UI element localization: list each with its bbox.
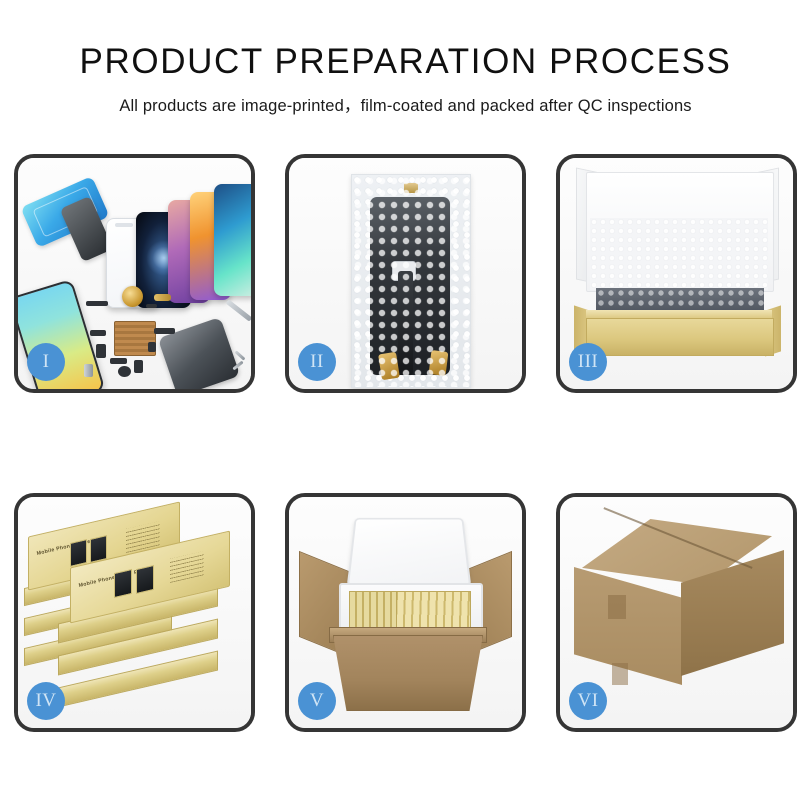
part-chip [154, 294, 171, 301]
bubble-wrap-bag-icon [351, 174, 471, 388]
box-product-image [114, 569, 132, 598]
part-chip [86, 301, 108, 306]
flex-cable-icon [398, 271, 413, 375]
process-step-panel-2: II [285, 154, 526, 393]
step-badge-3: III [569, 343, 607, 381]
carton-tape-mark [608, 595, 626, 619]
page-header: PRODUCT PREPARATION PROCESS All products… [0, 0, 811, 116]
tape-tab-icon [404, 183, 418, 193]
step-badge-1: I [27, 343, 65, 381]
part-chip [148, 342, 156, 352]
process-step-panel-6: VI [556, 493, 797, 732]
carton-front-face [574, 567, 682, 685]
part-chip [154, 328, 175, 334]
speaker-coil-icon [122, 286, 143, 307]
part-chip [134, 360, 143, 373]
foam-lid-icon [347, 518, 472, 587]
carton-front [333, 635, 483, 711]
step-badge-6: VI [569, 682, 607, 720]
teal-phone-icon [214, 184, 255, 296]
step-badge-2: II [298, 343, 336, 381]
gold-contact-icon [378, 352, 400, 380]
process-step-panel-1: I [14, 154, 255, 393]
part-chip [84, 364, 93, 377]
part-chip [90, 330, 106, 336]
page-title: PRODUCT PREPARATION PROCESS [0, 44, 811, 81]
process-step-panel-5: V [285, 493, 526, 732]
process-step-panel-3: III [556, 154, 797, 393]
box-product-image [70, 539, 87, 567]
part-chip [146, 304, 157, 308]
page-subtitle: All products are image-printed，film-coat… [0, 92, 811, 116]
box-product-image [136, 565, 154, 594]
tweezers-icon [226, 299, 253, 321]
step-badge-4: IV [27, 682, 65, 720]
gold-box-front [586, 318, 774, 356]
part-chip [118, 366, 131, 377]
part-chip [110, 358, 127, 364]
step-badge-5: V [298, 682, 336, 720]
process-steps-grid: I II III [14, 154, 797, 732]
part-chip [235, 350, 246, 360]
foam-sheet-icon [590, 218, 768, 290]
part-chip [96, 344, 106, 358]
gold-contact-icon [429, 350, 449, 376]
carton-tape-mark [612, 663, 628, 685]
process-step-panel-4: Mobile Phone Spare Parts Mobile Phone Sp… [14, 493, 255, 732]
